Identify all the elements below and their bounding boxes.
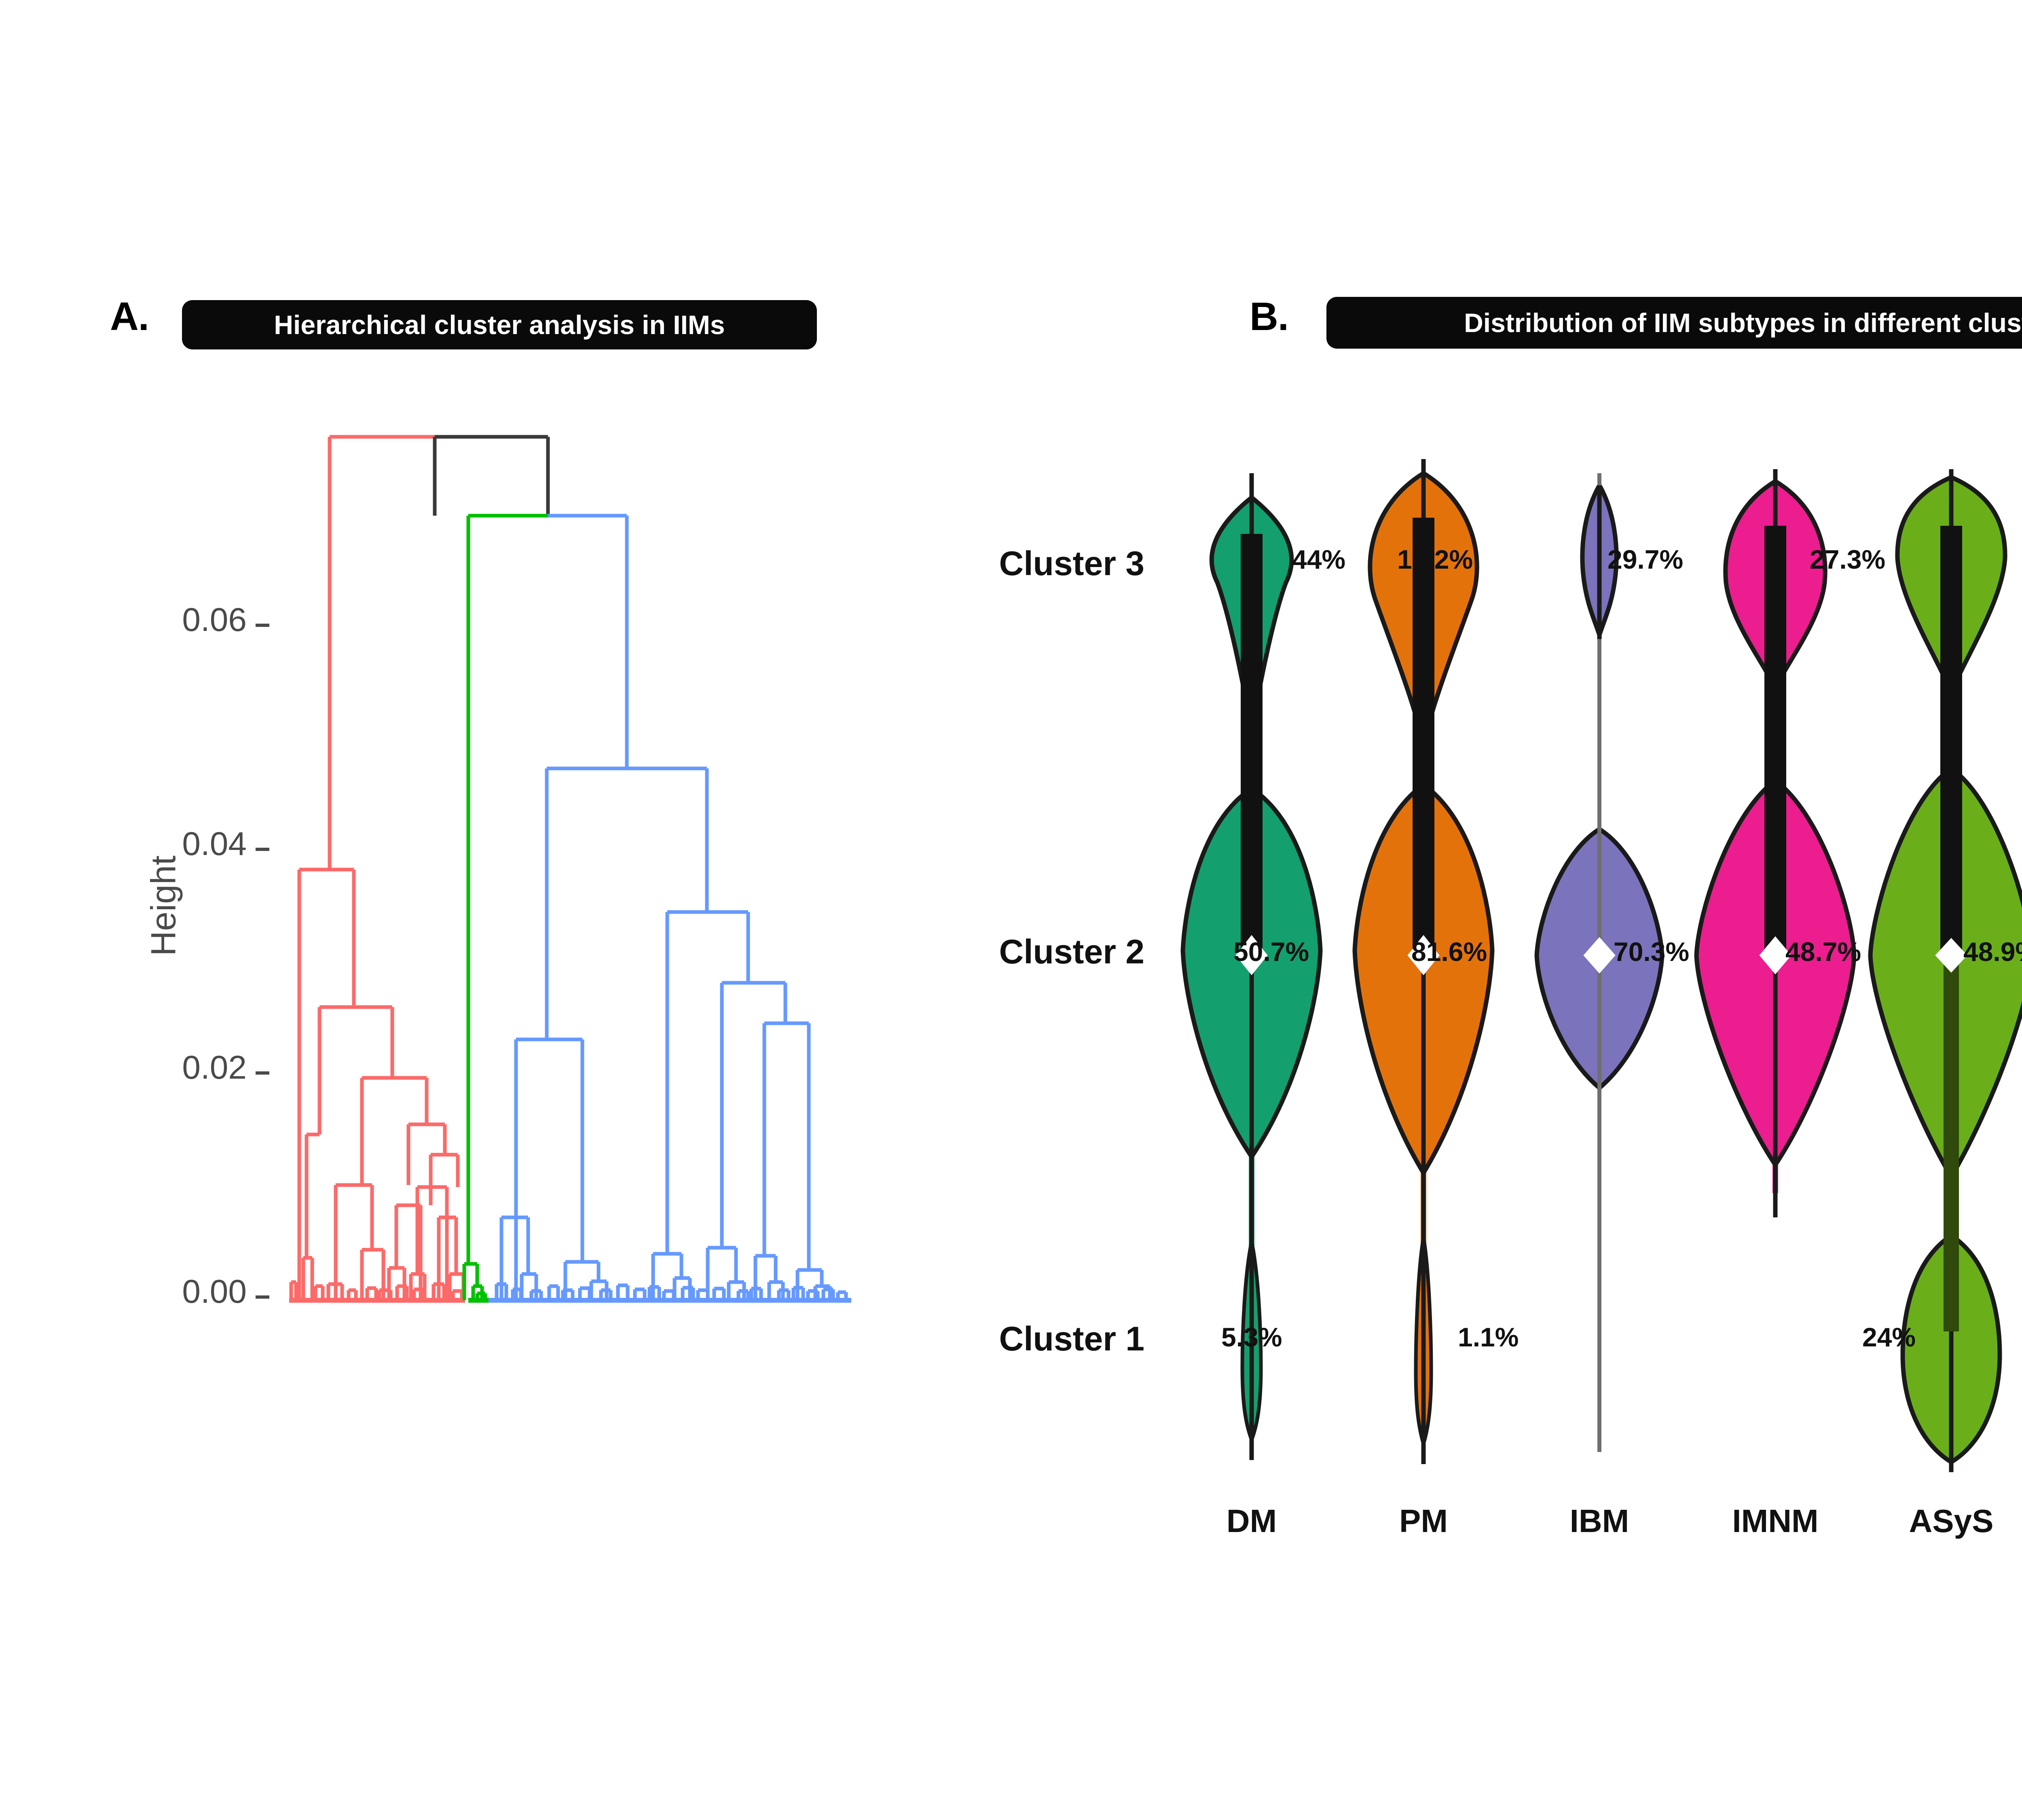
subtype-label-DM: DM bbox=[1171, 1503, 1332, 1540]
panel-a-letter: A. bbox=[110, 294, 149, 339]
dendro-cluster-green bbox=[435, 437, 548, 1300]
cluster-row-label-3: Cluster 3 bbox=[918, 544, 1144, 583]
subtype-label-IMNM: IMNM bbox=[1694, 1503, 1856, 1540]
subtype-label-IBM: IBM bbox=[1519, 1503, 1680, 1540]
dendro-cluster-red bbox=[289, 437, 465, 1300]
dendrogram-plot bbox=[275, 425, 865, 1327]
pct-label-IMNM-cluster3: 27.3% bbox=[1810, 544, 1885, 575]
violin-IMNM bbox=[1696, 469, 1854, 1217]
dendro-cluster-blue bbox=[489, 516, 851, 1300]
panel-a-ytick-mark-2 bbox=[256, 1071, 269, 1075]
panel-a-ytick-1: 0.04 bbox=[133, 825, 247, 863]
cluster-row-label-1: Cluster 1 bbox=[918, 1319, 1144, 1359]
pct-label-PM-cluster1: 1.1% bbox=[1458, 1322, 1519, 1352]
panel-a-ytick-2: 0.02 bbox=[133, 1049, 247, 1087]
pct-label-IBM-cluster3: 29.7% bbox=[1607, 544, 1683, 575]
pct-label-PM-cluster2: 81.6% bbox=[1411, 936, 1487, 967]
dendro-root-link bbox=[435, 437, 548, 516]
pct-label-DM-cluster2: 50.7% bbox=[1233, 936, 1309, 967]
subtype-label-PM: PM bbox=[1343, 1503, 1504, 1540]
panel-b-letter: B. bbox=[1250, 294, 1288, 339]
panel-a-ytick-3: 0.00 bbox=[133, 1273, 247, 1311]
pct-label-PM-cluster3: 17.2% bbox=[1397, 544, 1473, 575]
panel-a-ytick-0: 0.06 bbox=[133, 601, 247, 639]
panel-a-ytick-mark-3 bbox=[256, 1295, 269, 1299]
subtype-label-ASyS: ASyS bbox=[1870, 1503, 2022, 1540]
pct-label-IMNM-cluster1: 24% bbox=[1862, 1322, 1916, 1352]
pct-label-ASyS-cluster2: 48.9% bbox=[1963, 936, 2022, 967]
panel-a-ytick-mark-0 bbox=[256, 624, 269, 627]
cluster-row-label-2: Cluster 2 bbox=[918, 932, 1144, 971]
pct-label-DM-cluster1: 5.3% bbox=[1221, 1322, 1282, 1352]
figure-canvas: A. Hierarchical cluster analysis in IIMs… bbox=[0, 0, 2022, 1820]
pct-label-DM-cluster3: 44% bbox=[1292, 544, 1345, 575]
panel-a-ytick-mark-1 bbox=[256, 848, 269, 851]
panel-b-title: Distribution of IIM subtypes in differen… bbox=[1326, 297, 2022, 349]
pct-label-IMNM-cluster2: 48.7% bbox=[1785, 936, 1861, 967]
panel-a-title: Hierarchical cluster analysis in IIMs bbox=[182, 300, 817, 349]
pct-label-IBM-cluster2: 70.3% bbox=[1614, 936, 1689, 967]
